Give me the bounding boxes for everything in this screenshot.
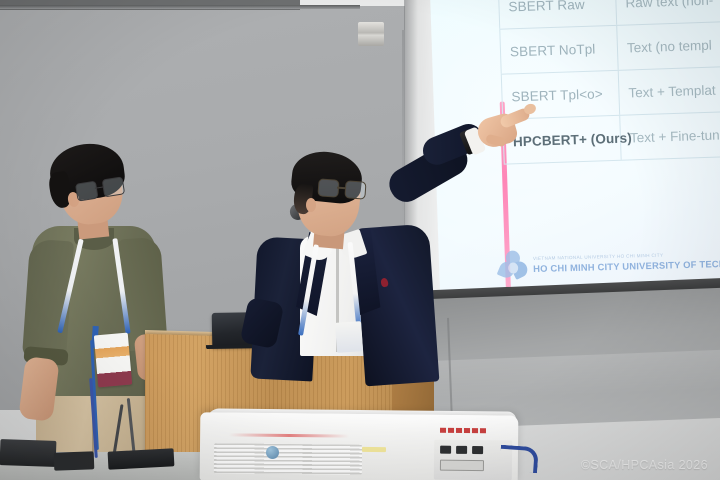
hcmut-logo-icon — [499, 250, 528, 281]
table-cell-description: Text + Fine-tun — [620, 110, 720, 160]
table-row-highlighted: HPCBERT+ (Ours) Text + Fine-tun — [502, 110, 720, 165]
projector-vent-grille — [214, 443, 362, 475]
speaker-ear — [306, 198, 316, 212]
table-cell-method: SBERT NoTpl — [499, 26, 618, 74]
table-cell-description: Text (no templ — [617, 20, 720, 70]
table-row: SBERT NoTpl Text (no templ — [499, 20, 720, 75]
projector-warning-strip — [440, 428, 486, 433]
projector-sensor-icon — [266, 446, 279, 459]
wall-panel-bracket — [358, 22, 384, 46]
projector-label-sticker — [362, 447, 386, 452]
attendee-left-conference-badge — [94, 333, 132, 388]
wall-panel-rail — [0, 5, 360, 9]
power-strip — [108, 448, 175, 469]
projector-network-cable — [499, 445, 539, 474]
photo-watermark: ©SCA/HPCAsia 2026 — [581, 458, 708, 472]
table-cell-method: HPCBERT+ (Ours) — [502, 116, 621, 164]
slide-comparison-table: SBERT Raw Raw text (non- SBERT NoTpl Tex… — [498, 0, 720, 165]
presentation-photo-scene: SBERT Raw Raw text (non- SBERT NoTpl Tex… — [0, 0, 720, 480]
table-cell-method: SBERT Raw — [498, 0, 617, 29]
university-logo: VIETNAM NATIONAL UNIVERSITY HO CHI MINH … — [499, 244, 720, 281]
equipment-box-left — [0, 439, 56, 467]
speaker-glasses-icon — [317, 178, 366, 198]
speaker-conference-badge — [335, 321, 363, 353]
equipment-box-left-2 — [54, 451, 95, 470]
university-logo-text: VIETNAM NATIONAL UNIVERSITY HO CHI MINH … — [533, 250, 720, 274]
table-cell-description: Text + Templat — [619, 65, 720, 115]
table-cell-description: Raw text (non- — [616, 0, 720, 25]
